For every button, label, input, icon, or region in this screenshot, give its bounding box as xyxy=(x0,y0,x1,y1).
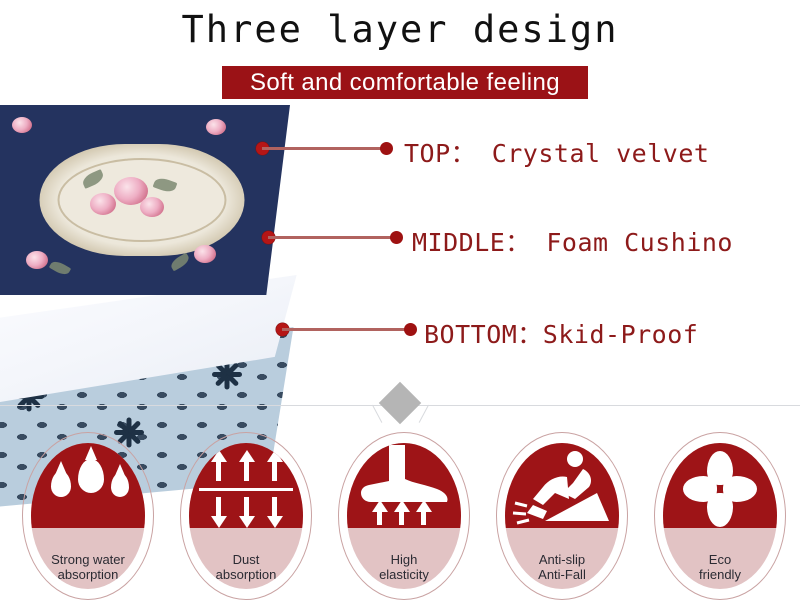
subtitle-text: Soft and comfortable feeling xyxy=(250,69,560,97)
callout-marker-dot-bottom xyxy=(404,323,417,336)
rug-rose xyxy=(90,193,116,215)
divider-notch-left xyxy=(372,405,382,423)
badge-caption-line2: elasticity xyxy=(347,567,461,582)
feature-badge-water: Strong water absorption xyxy=(22,432,154,600)
badge-caption-line2: friendly xyxy=(663,567,777,582)
rug-leaf xyxy=(169,253,191,272)
callout-label-top: TOP： Crystal velvet xyxy=(404,134,709,170)
badge-caption-line2: absorption xyxy=(189,567,303,582)
badge-body: Anti-slip Anti-Fall xyxy=(505,443,619,589)
badge-body: High elasticity xyxy=(347,443,461,589)
callout-line-top xyxy=(262,147,386,150)
top-layer-velvet xyxy=(0,105,290,295)
clover-flower-icon xyxy=(663,443,777,528)
badge-caption-line2: absorption xyxy=(31,567,145,582)
feature-badge-row: Strong water absorption Du xyxy=(0,432,800,614)
callout-line-bottom xyxy=(282,328,406,331)
badge-caption-line1: Anti-slip xyxy=(505,552,619,567)
subtitle-banner: Soft and comfortable feeling xyxy=(222,66,588,99)
badge-caption-line1: Strong water xyxy=(31,552,145,567)
foot-arrows-icon xyxy=(347,443,461,528)
feature-badge-dust: Dust absorption xyxy=(180,432,312,600)
rug-leaf xyxy=(49,259,71,278)
badge-caption: Dust absorption xyxy=(189,552,303,582)
rug-rose xyxy=(26,251,48,269)
feature-badge-antislip: Anti-slip Anti-Fall xyxy=(496,432,628,600)
falling-person-shape xyxy=(505,443,619,540)
callout-label-bottom: BOTTOM：Skid-Proof xyxy=(424,315,698,351)
infographic-canvas: Three layer design Soft and comfortable … xyxy=(0,0,800,614)
product-layer-illustration xyxy=(0,105,340,405)
falling-person-icon xyxy=(505,443,619,528)
badge-caption-line1: Dust xyxy=(189,552,303,567)
page-title: Three layer design xyxy=(0,8,800,51)
water-drops-icon xyxy=(31,443,145,528)
callout-marker-dot-middle xyxy=(390,231,403,244)
feature-badge-elasticity: High elasticity xyxy=(338,432,470,600)
badge-caption: Eco friendly xyxy=(663,552,777,582)
badge-caption: Strong water absorption xyxy=(31,552,145,582)
diamond-icon xyxy=(379,382,421,424)
badge-body: Strong water absorption xyxy=(31,443,145,589)
rug-rose xyxy=(12,117,32,133)
divider-notch-right xyxy=(419,405,429,423)
badge-caption: High elasticity xyxy=(347,552,461,582)
rug-rose xyxy=(140,197,164,217)
badge-body: Dust absorption xyxy=(189,443,303,589)
rug-rose xyxy=(194,245,216,263)
badge-caption-line2: Anti-Fall xyxy=(505,567,619,582)
badge-body: Eco friendly xyxy=(663,443,777,589)
feature-badge-eco: Eco friendly xyxy=(654,432,786,600)
up-down-arrows-icon xyxy=(189,443,303,528)
badge-caption-line1: High xyxy=(347,552,461,567)
badge-caption-line1: Eco xyxy=(663,552,777,567)
foot-shape xyxy=(347,443,461,540)
callout-label-middle: MIDDLE： Foam Cushino xyxy=(412,223,733,259)
rug-rose xyxy=(206,119,226,135)
badge-caption: Anti-slip Anti-Fall xyxy=(505,552,619,582)
callout-line-middle xyxy=(268,236,396,239)
callout-marker-dot-top xyxy=(380,142,393,155)
